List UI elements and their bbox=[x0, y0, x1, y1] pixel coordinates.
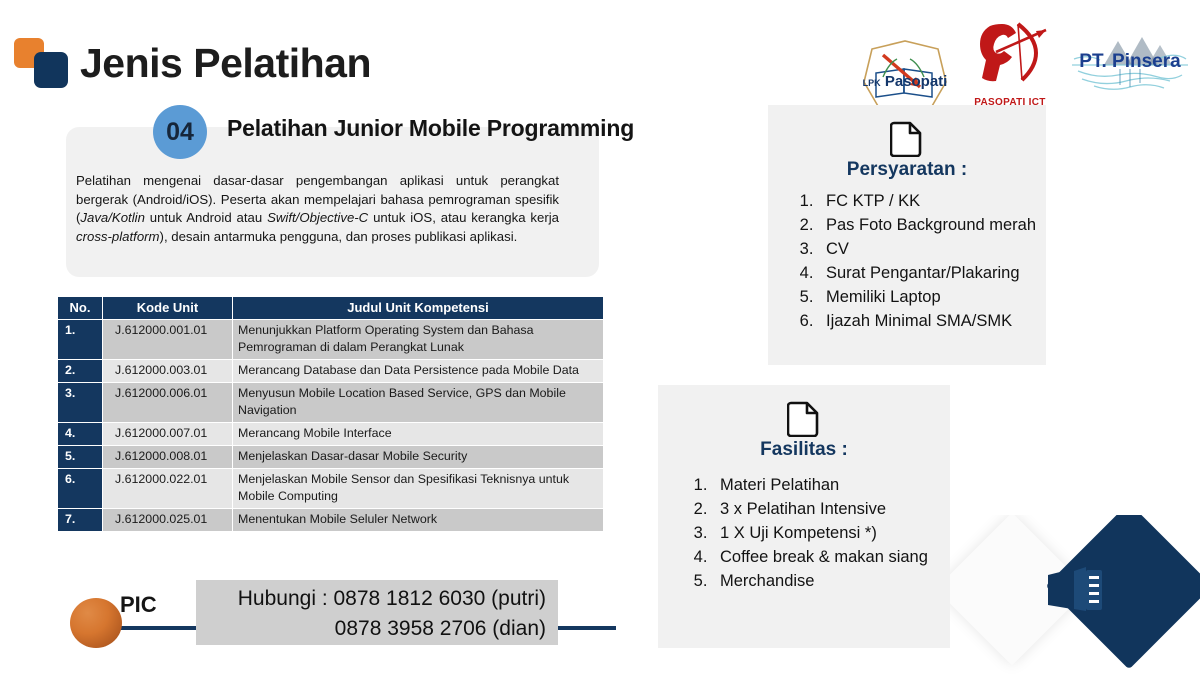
cell-code: J.612000.008.01 bbox=[103, 446, 233, 469]
cell-no: 7. bbox=[58, 509, 103, 532]
table-row: 4.J.612000.007.01Merancang Mobile Interf… bbox=[58, 423, 604, 446]
cell-no: 6. bbox=[58, 469, 103, 509]
cell-code: J.612000.003.01 bbox=[103, 360, 233, 383]
cell-code: J.612000.025.01 bbox=[103, 509, 233, 532]
list-item: Surat Pengantar/Plakaring bbox=[818, 261, 1038, 285]
competency-unit-table: No. Kode Unit Judul Unit Kompetensi 1.J.… bbox=[57, 296, 604, 532]
fasilitas-list: Materi Pelatihan3 x Pelatihan Intensive1… bbox=[680, 473, 942, 593]
cell-title: Menyusun Mobile Location Based Service, … bbox=[233, 383, 604, 423]
fasilitas-panel: Fasilitas : Materi Pelatihan3 x Pelatiha… bbox=[658, 385, 950, 648]
cell-title: Menjelaskan Mobile Sensor dan Spesifikas… bbox=[233, 469, 604, 509]
section-description: Pelatihan mengenai dasar-dasar pengemban… bbox=[76, 172, 559, 246]
table-row: 2.J.612000.003.01Merancang Database dan … bbox=[58, 360, 604, 383]
decorative-diamonds bbox=[950, 515, 1200, 675]
table-col-code: Kode Unit bbox=[103, 297, 233, 320]
persyaratan-panel: Persyaratan : FC KTP / KKPas Foto Backgr… bbox=[768, 105, 1046, 365]
list-item: Materi Pelatihan bbox=[712, 473, 942, 497]
table-body: 1.J.612000.001.01Menunjukkan Platform Op… bbox=[58, 320, 604, 532]
pic-label: PIC bbox=[120, 592, 157, 618]
table-col-title: Judul Unit Kompetensi bbox=[233, 297, 604, 320]
cell-code: J.612000.007.01 bbox=[103, 423, 233, 446]
contact-line-2: 0878 3958 2706 (dian) bbox=[196, 614, 546, 644]
cell-title: Merancang Database dan Data Persistence … bbox=[233, 360, 604, 383]
table-col-no: No. bbox=[58, 297, 103, 320]
pt-pinsera-label: PT. Pinsera bbox=[1079, 51, 1180, 73]
cell-no: 2. bbox=[58, 360, 103, 383]
pt-pinsera-logo: PT. Pinsera bbox=[1060, 12, 1200, 112]
lpk-pasopati-label: LPK Pasopati bbox=[850, 73, 960, 90]
list-item: Merchandise bbox=[712, 569, 942, 593]
list-item: Pas Foto Background merah bbox=[818, 213, 1038, 237]
table-row: 7.J.612000.025.01Menentukan Mobile Selul… bbox=[58, 509, 604, 532]
section-heading: Pelatihan Junior Mobile Programming bbox=[227, 115, 634, 142]
page-title: Jenis Pelatihan bbox=[80, 40, 371, 87]
cell-code: J.612000.006.01 bbox=[103, 383, 233, 423]
cell-no: 3. bbox=[58, 383, 103, 423]
cell-no: 5. bbox=[58, 446, 103, 469]
cell-no: 1. bbox=[58, 320, 103, 360]
cell-code: J.612000.022.01 bbox=[103, 469, 233, 509]
fasilitas-title: Fasilitas : bbox=[658, 439, 950, 461]
persyaratan-title: Persyaratan : bbox=[768, 159, 1046, 181]
cell-code: J.612000.001.01 bbox=[103, 320, 233, 360]
table-row: 6.J.612000.022.01Menjelaskan Mobile Sens… bbox=[58, 469, 604, 509]
document-icon bbox=[890, 119, 924, 162]
pic-divider-line-right bbox=[556, 626, 616, 630]
cell-title: Merancang Mobile Interface bbox=[233, 423, 604, 446]
archer-icon bbox=[960, 16, 1060, 90]
cell-title: Menentukan Mobile Seluler Network bbox=[233, 509, 604, 532]
lpk-pasopati-logo: LPK Pasopati bbox=[850, 35, 960, 90]
table-header-row: No. Kode Unit Judul Unit Kompetensi bbox=[58, 297, 604, 320]
open-book-icon bbox=[1046, 565, 1108, 615]
contact-text: Hubungi : 0878 1812 6030 (putri) 0878 39… bbox=[196, 584, 546, 644]
list-item: Memiliki Laptop bbox=[818, 285, 1038, 309]
table-row: 1.J.612000.001.01Menunjukkan Platform Op… bbox=[58, 320, 604, 360]
cell-title: Menjelaskan Dasar-dasar Mobile Security bbox=[233, 446, 604, 469]
list-item: FC KTP / KK bbox=[818, 189, 1038, 213]
list-item: 1 X Uji Kompetensi *) bbox=[712, 521, 942, 545]
pasopati-ict-logo: PASOPATI ICT bbox=[960, 16, 1060, 108]
table-row: 3.J.612000.006.01Menyusun Mobile Locatio… bbox=[58, 383, 604, 423]
document-icon bbox=[787, 399, 821, 442]
list-item: 3 x Pelatihan Intensive bbox=[712, 497, 942, 521]
cell-title: Menunjukkan Platform Operating System da… bbox=[233, 320, 604, 360]
pic-circle-icon bbox=[70, 598, 122, 648]
persyaratan-list: FC KTP / KKPas Foto Background merahCVSu… bbox=[786, 189, 1038, 333]
logo-row: LPK Pasopati PASOPATI ICT bbox=[850, 12, 1200, 112]
list-item: Coffee break & makan siang bbox=[712, 545, 942, 569]
section-number-badge: 04 bbox=[153, 105, 207, 159]
navy-square-icon bbox=[34, 52, 68, 88]
contact-line-1: Hubungi : 0878 1812 6030 (putri) bbox=[196, 584, 546, 614]
list-item: Ijazah Minimal SMA/SMK bbox=[818, 309, 1038, 333]
cell-no: 4. bbox=[58, 423, 103, 446]
list-item: CV bbox=[818, 237, 1038, 261]
table-row: 5.J.612000.008.01Menjelaskan Dasar-dasar… bbox=[58, 446, 604, 469]
brand-logo-mark bbox=[14, 38, 70, 92]
